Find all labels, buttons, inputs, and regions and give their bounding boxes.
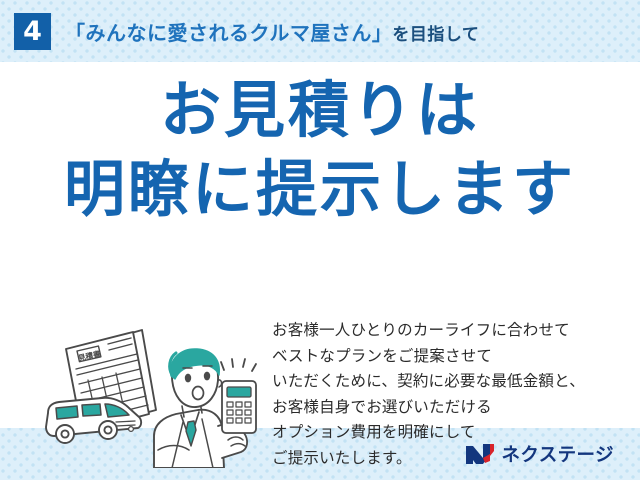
body-line: ベストなプランをご提案させて — [272, 344, 632, 370]
headline-line-2: 明瞭に提示します — [0, 159, 640, 220]
header-title: 「みんなに愛されるクルマ屋さん」を目指して — [65, 17, 479, 46]
body-line: お客様一人ひとりのカーライフに合わせて — [272, 318, 632, 344]
nextstage-n-mark-icon — [465, 442, 495, 466]
brand-name: ネクステージ — [502, 441, 614, 467]
slide-footer: ネクステージ — [0, 428, 640, 480]
promo-slide: 4 「みんなに愛されるクルマ屋さん」を目指して お見積りは 明瞭に提示します — [0, 0, 640, 480]
body-line: いただくために、契約に必要な最低金額と、 — [272, 369, 632, 395]
header-title-quoted: 「みんなに愛されるクルマ屋さん」 — [65, 21, 392, 45]
sparkle-marks — [221, 359, 256, 371]
body-line: お客様自身でお選びいただける — [272, 395, 632, 421]
header-title-tail: を目指して — [392, 25, 479, 45]
headline-line-1: お見積りは — [0, 80, 640, 141]
brand-logo: ネクステージ — [465, 441, 614, 467]
headline: お見積りは 明瞭に提示します — [0, 80, 640, 220]
calculator — [222, 381, 256, 433]
content-panel: お見積りは 明瞭に提示します — [0, 62, 640, 428]
slide-header: 4 「みんなに愛されるクルマ屋さん」を目指して — [0, 0, 640, 62]
step-number-badge: 4 — [14, 13, 51, 50]
